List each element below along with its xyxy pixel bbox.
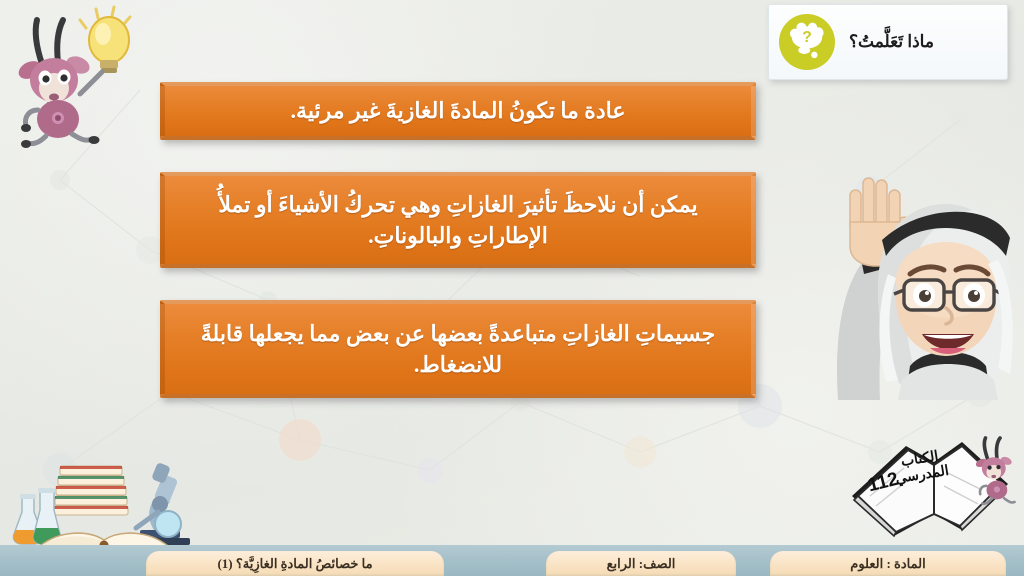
thought-bubble-question-icon: ? — [779, 14, 835, 70]
statement-text-3: جسيماتِ الغازاتِ متباعدةً بعضها عن بعض م… — [183, 318, 733, 380]
gazelle-mascot-with-lightbulb-icon — [6, 2, 138, 148]
statement-text-1: عادة ما تكونُ المادةَ الغازيةَ غير مرئية… — [183, 95, 733, 126]
statement-text-2: يمكن أن نلاحظَ تأثيرَ الغازاتِ وهي تحركُ… — [183, 189, 733, 251]
footer-tab-subject[interactable]: المادة : العلوم — [770, 551, 1006, 576]
footer-bar: المادة : العلوم الصف: الرابع ما خصائصُ ا… — [0, 545, 1024, 576]
slide-canvas: ماذا تَعَلَّمتُ؟ ? عادة ما تكونُ المادةَ… — [0, 0, 1024, 576]
statement-box-3: جسيماتِ الغازاتِ متباعدةً بعضها عن بعض م… — [160, 300, 756, 398]
svg-text:?: ? — [802, 29, 812, 46]
page-title: ماذا تَعَلَّمتُ؟ — [849, 32, 934, 52]
statement-box-1: عادة ما تكونُ المادةَ الغازيةَ غير مرئية… — [160, 82, 756, 140]
science-books-flasks-microscope-icon — [8, 442, 204, 550]
header-banner: ماذا تَعَلَّمتُ؟ ? — [768, 4, 1008, 80]
footer-tab-lesson[interactable]: ما خصائصُ المادةِ الغازِيَّة؟ (1) — [146, 551, 444, 576]
statement-box-2: يمكن أن نلاحظَ تأثيرَ الغازاتِ وهي تحركُ… — [160, 172, 756, 268]
footer-tab-grade[interactable]: الصف: الرابع — [546, 551, 736, 576]
teacher-memoji-raising-hand-icon — [806, 168, 1018, 400]
open-textbook-icon — [842, 432, 1024, 550]
